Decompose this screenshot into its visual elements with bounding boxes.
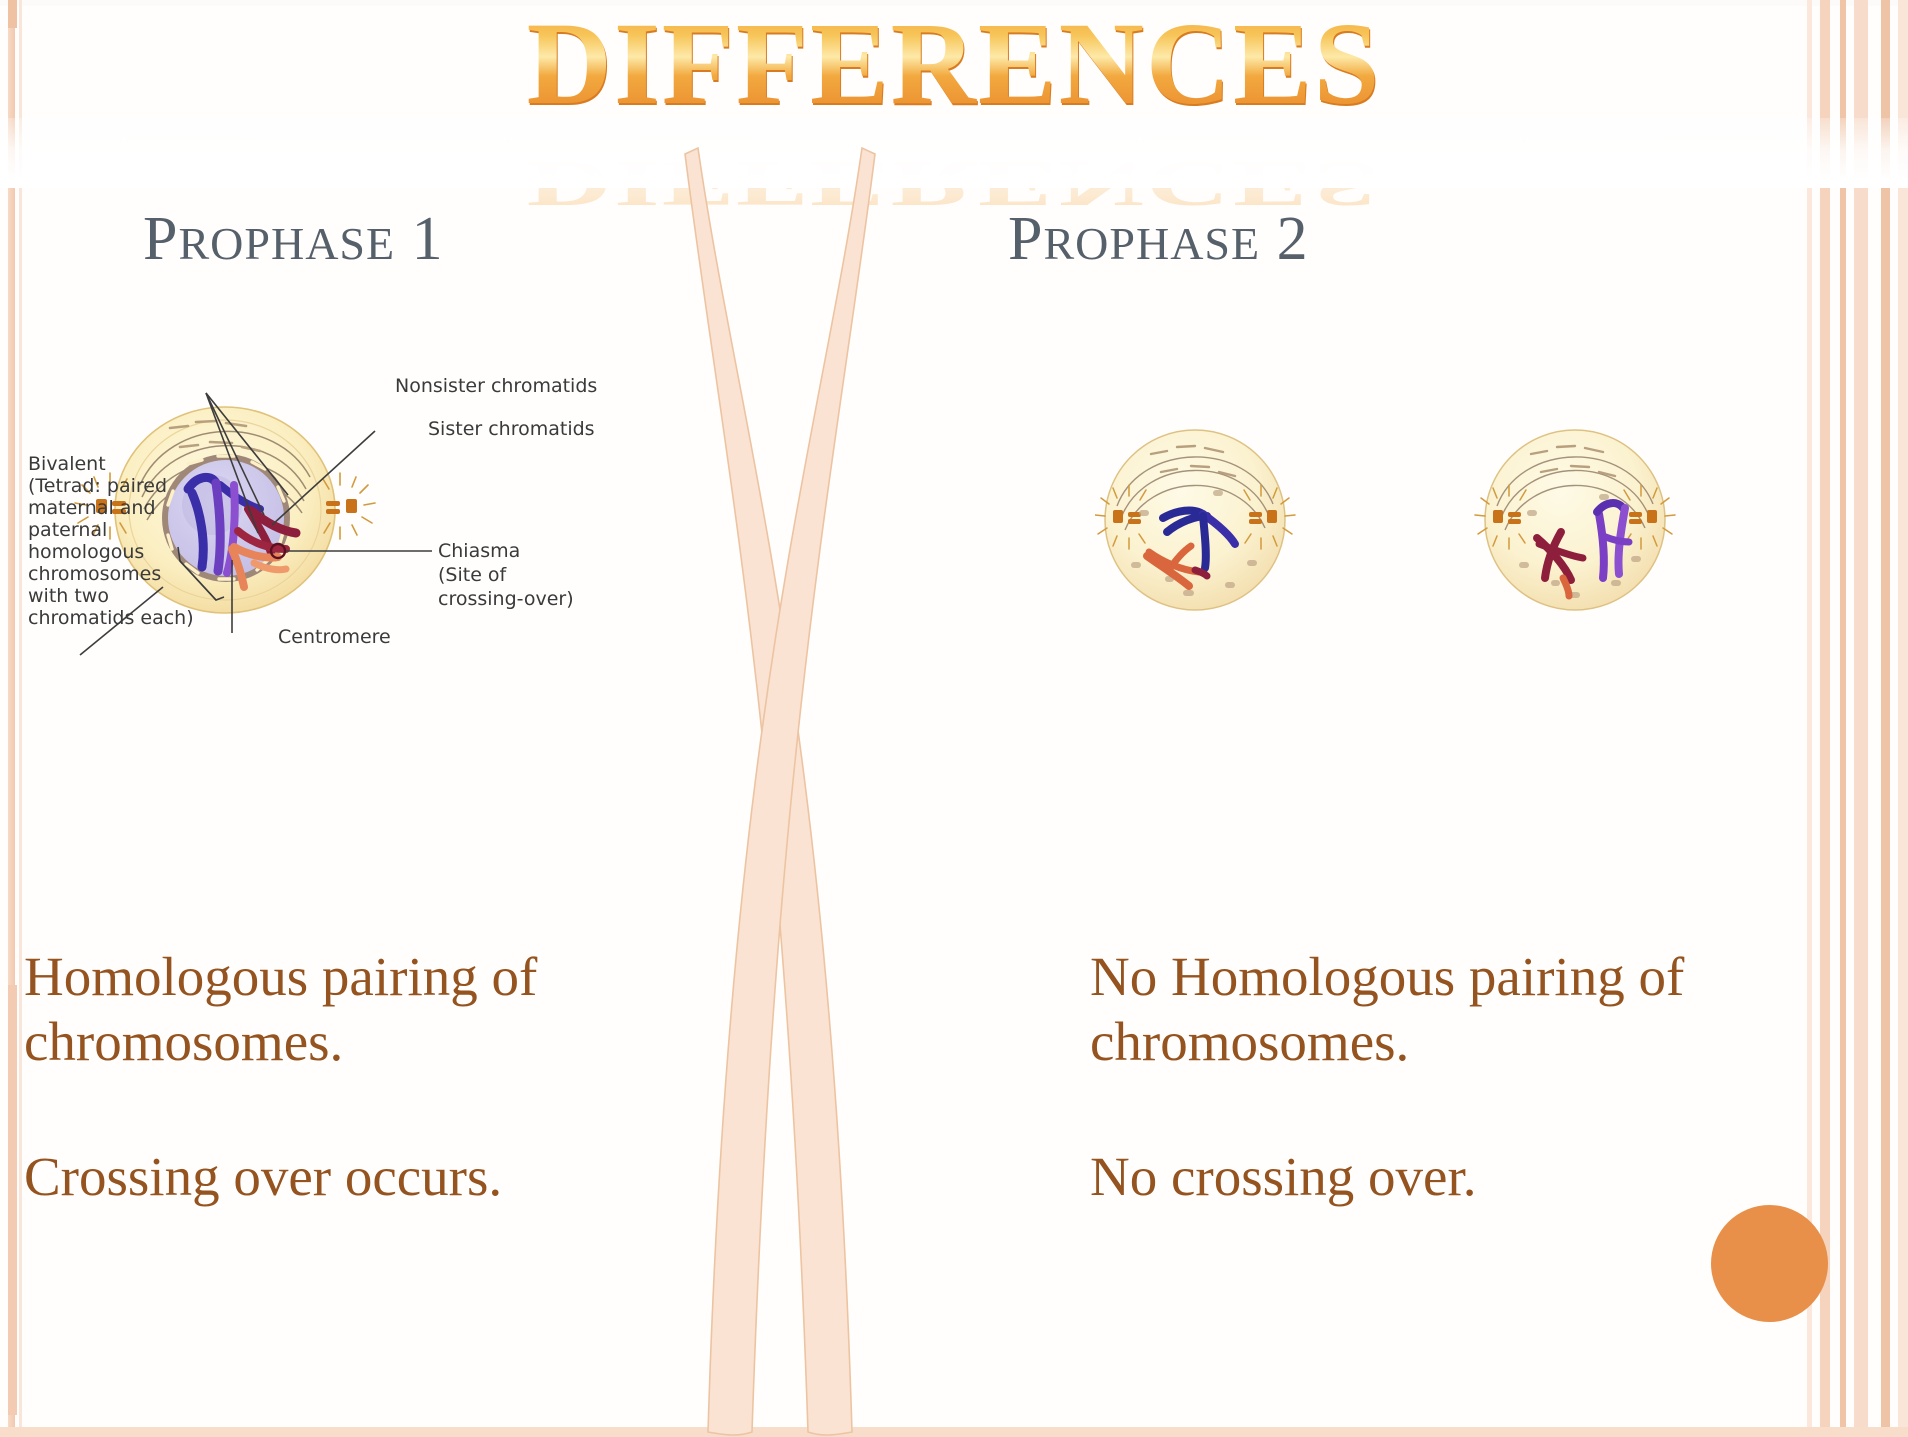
slide-title: DIFFERENCES bbox=[527, 4, 1382, 124]
label-nonsister-chromatids: Nonsister chromatids bbox=[395, 375, 597, 397]
right-border-stripe-2 bbox=[1820, 0, 1830, 1437]
heading-body: ROPHASE bbox=[178, 218, 395, 269]
slide-canvas: DIFFERENCES DIFFERENCES PROPHASE 1 PROPH… bbox=[0, 0, 1908, 1437]
right-border-stripe-6 bbox=[1898, 0, 1908, 1437]
crossing-ribbons-divider bbox=[680, 140, 880, 1437]
prophase-2-cell-b bbox=[1475, 430, 1675, 610]
right-border-stripe-5 bbox=[1881, 0, 1890, 1437]
prophase-1-diagram: Nonsister chromatids Sister chromatids C… bbox=[20, 365, 660, 665]
heading-initial: P bbox=[1008, 205, 1043, 273]
orange-circle-decoration bbox=[1711, 1205, 1828, 1322]
heading-initial: P bbox=[143, 205, 178, 273]
left-border-accent-bottom bbox=[8, 985, 17, 1415]
ribbon-right bbox=[708, 148, 875, 1435]
prophase-2-cell-a bbox=[1095, 430, 1295, 610]
column-heading-prophase-2: PROPHASE 2 bbox=[1008, 204, 1309, 275]
prophase-2-point-2: No crossing over. bbox=[1090, 1145, 1810, 1210]
right-border-stripe-3 bbox=[1840, 0, 1846, 1437]
label-sister-chromatids: Sister chromatids bbox=[428, 418, 595, 440]
prophase-1-point-1: Homologous pairing of chromosomes. bbox=[24, 945, 664, 1075]
heading-number: 1 bbox=[412, 205, 444, 273]
column-heading-prophase-1: PROPHASE 1 bbox=[143, 204, 444, 275]
label-chiasma-line-1: Chiasma bbox=[438, 540, 520, 562]
right-border-stripe-4 bbox=[1854, 0, 1868, 1437]
label-chiasma-line-2: (Site of bbox=[438, 564, 508, 586]
heading-body: ROPHASE bbox=[1043, 218, 1260, 269]
prophase-2-point-1: No Homologous pairing of chromosomes. bbox=[1090, 945, 1810, 1075]
label-centromere: Centromere bbox=[278, 626, 391, 648]
slide-title-area: DIFFERENCES bbox=[0, 4, 1908, 164]
left-border-stripe-inner bbox=[19, 0, 22, 1437]
heading-number: 2 bbox=[1277, 205, 1309, 273]
label-chiasma-line-3: crossing-over) bbox=[438, 588, 574, 610]
prophase-1-point-2: Crossing over occurs. bbox=[24, 1145, 664, 1210]
prophase-2-diagram bbox=[1095, 410, 1755, 630]
bottom-border-bar bbox=[0, 1427, 1908, 1437]
